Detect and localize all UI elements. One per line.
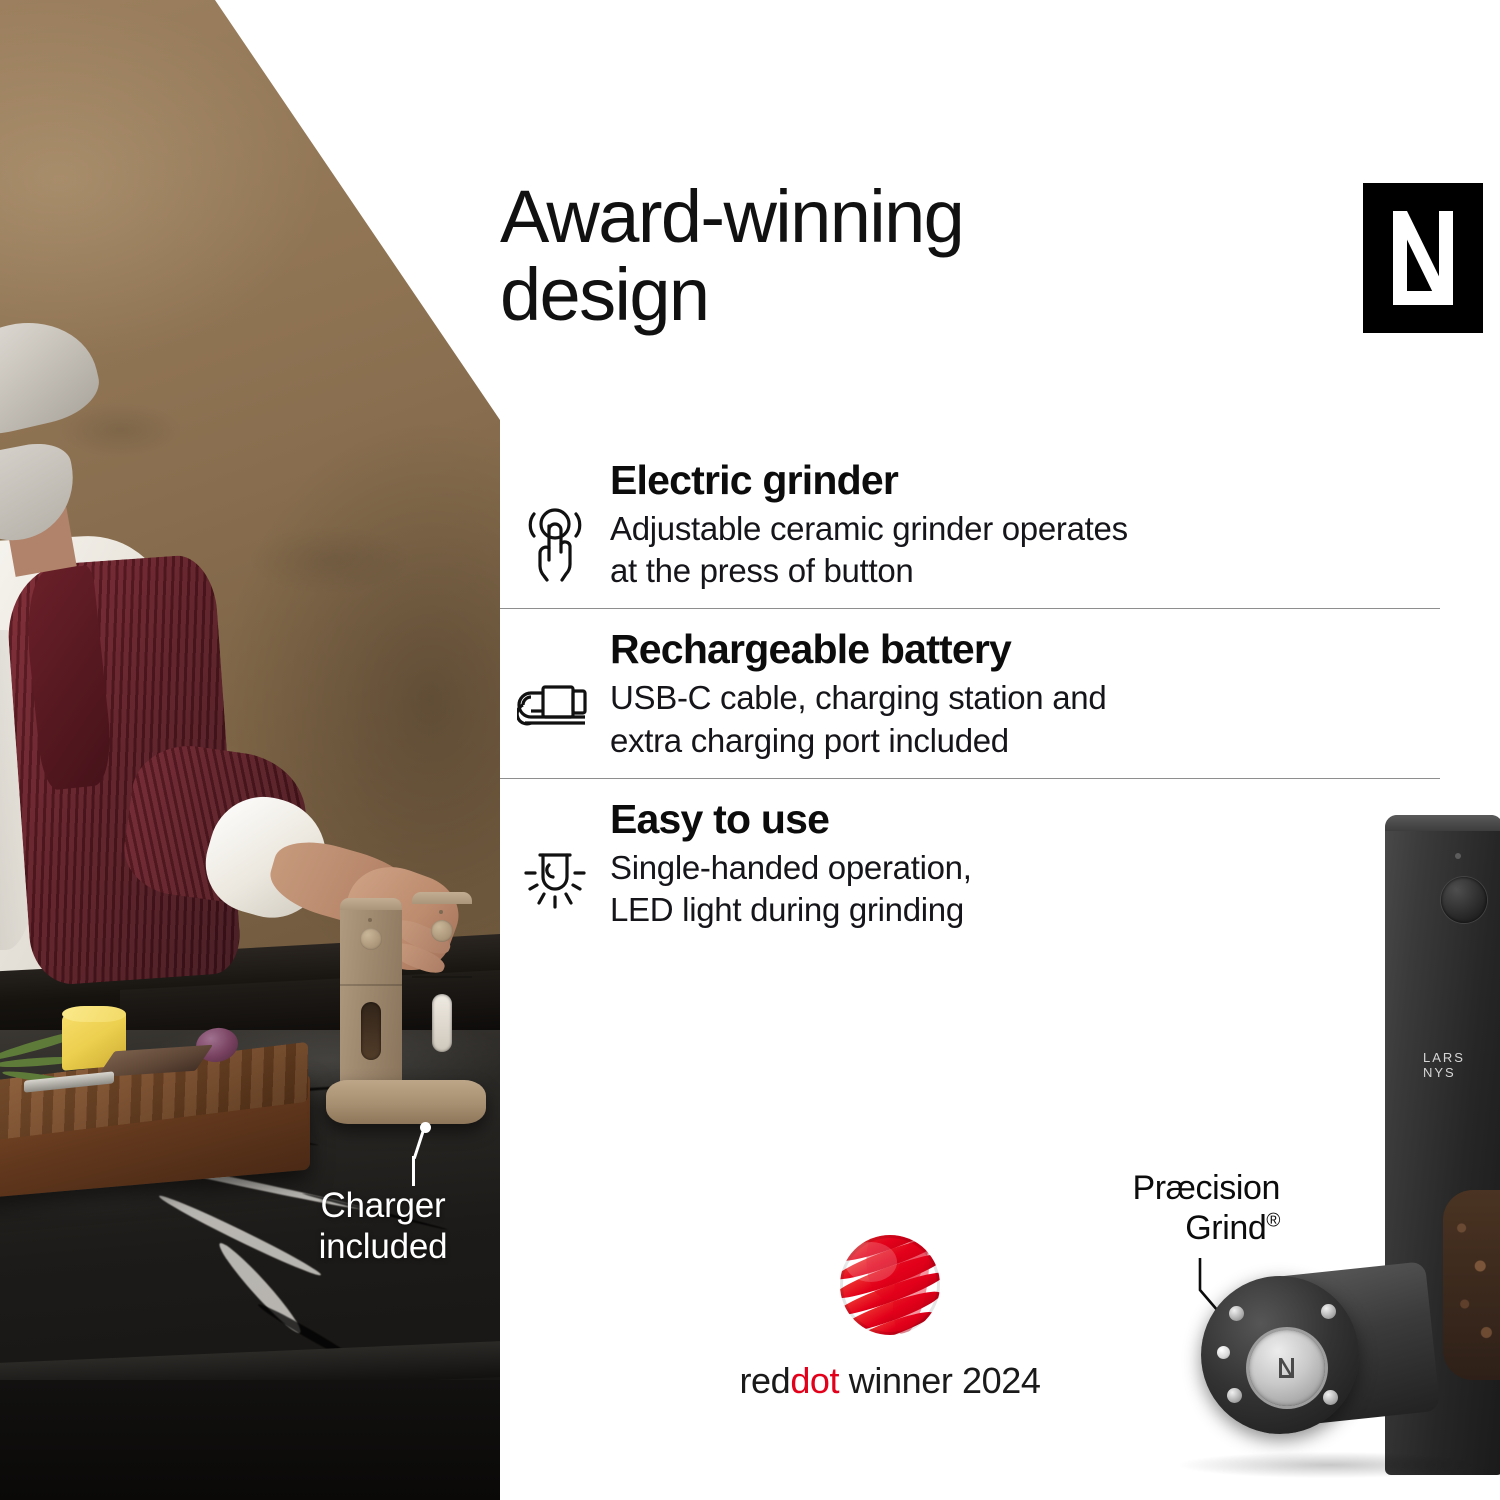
feature-desc: USB-C cable, charging station and extra … — [610, 677, 1480, 761]
reddot-prefix: red — [739, 1360, 790, 1401]
headline-line2: design — [500, 256, 1330, 334]
feature-desc-line2: extra charging port included — [610, 720, 1480, 762]
charger-label-line1: Charger — [268, 1186, 498, 1227]
feature-desc-line1: Single-handed operation, — [610, 847, 1480, 889]
registered-mark: ® — [1266, 1211, 1280, 1232]
salt-grinder-taupe — [412, 892, 472, 1088]
counter-front — [0, 1380, 500, 1500]
ln-monogram-icon — [1270, 1351, 1304, 1385]
grinder-product-base-view — [1195, 1262, 1433, 1474]
cheese-top — [62, 1006, 126, 1022]
product-brand-text: LARS NYS — [1423, 1050, 1500, 1080]
tap-finger-icon — [500, 458, 610, 582]
leader-line — [412, 1156, 415, 1186]
reddot-suffix: winner 2024 — [839, 1360, 1040, 1401]
feature-easy-to-use: Easy to use Single-handed operation, LED… — [500, 779, 1500, 947]
feature-text: Rechargeable battery USB-C cable, chargi… — [610, 627, 1500, 761]
lifestyle-photo: Charger included — [0, 0, 500, 1500]
charging-base — [326, 1080, 486, 1124]
reddot-sphere-icon — [837, 1232, 943, 1338]
feature-desc-line1: USB-C cable, charging station and — [610, 677, 1480, 719]
precision-grind-label: Præcision Grind® — [1060, 1168, 1280, 1248]
feature-text: Easy to use Single-handed operation, LED… — [610, 797, 1500, 931]
feature-desc: Adjustable ceramic grinder operates at t… — [610, 508, 1480, 592]
reddot-caption: reddot winner 2024 — [700, 1360, 1080, 1402]
feature-desc-line2: LED light during grinding — [610, 889, 1480, 931]
led-light-icon — [500, 797, 610, 919]
feature-desc: Single-handed operation, LED light durin… — [610, 847, 1480, 931]
person-chef — [0, 330, 370, 1090]
feature-electric-grinder: Electric grinder Adjustable ceramic grin… — [500, 440, 1500, 608]
precision-grind-annotation: Præcision Grind® — [1060, 1168, 1280, 1248]
feature-text: Electric grinder Adjustable ceramic grin… — [610, 458, 1500, 592]
feature-rechargeable-battery: Rechargeable battery USB-C cable, chargi… — [500, 609, 1500, 777]
pepper-grinder-taupe — [340, 898, 402, 1088]
feature-desc-line2: at the press of button — [610, 550, 1480, 592]
feature-title: Easy to use — [610, 797, 1480, 843]
brand-logo — [1363, 183, 1483, 333]
reddot-award-badge: reddot winner 2024 — [700, 1232, 1080, 1402]
reddot-highlight: dot — [790, 1360, 839, 1401]
feature-title: Rechargeable battery — [610, 627, 1480, 673]
usb-c-plug-icon — [500, 627, 610, 741]
page-title: Award-winning design — [500, 178, 1330, 335]
precision-label-line1: Præcision — [1060, 1168, 1280, 1208]
charger-included-label: Charger included — [268, 1186, 498, 1267]
feature-list: Electric grinder Adjustable ceramic grin… — [500, 440, 1500, 947]
precision-label-line2: Grind® — [1060, 1208, 1280, 1248]
ln-monogram-icon — [1363, 183, 1483, 333]
feature-title: Electric grinder — [610, 458, 1480, 504]
charger-label-line2: included — [268, 1227, 498, 1268]
headline-line1: Award-winning — [500, 178, 1330, 256]
grind-adjustment-dial — [1249, 1330, 1325, 1406]
feature-desc-line1: Adjustable ceramic grinder operates — [610, 508, 1480, 550]
